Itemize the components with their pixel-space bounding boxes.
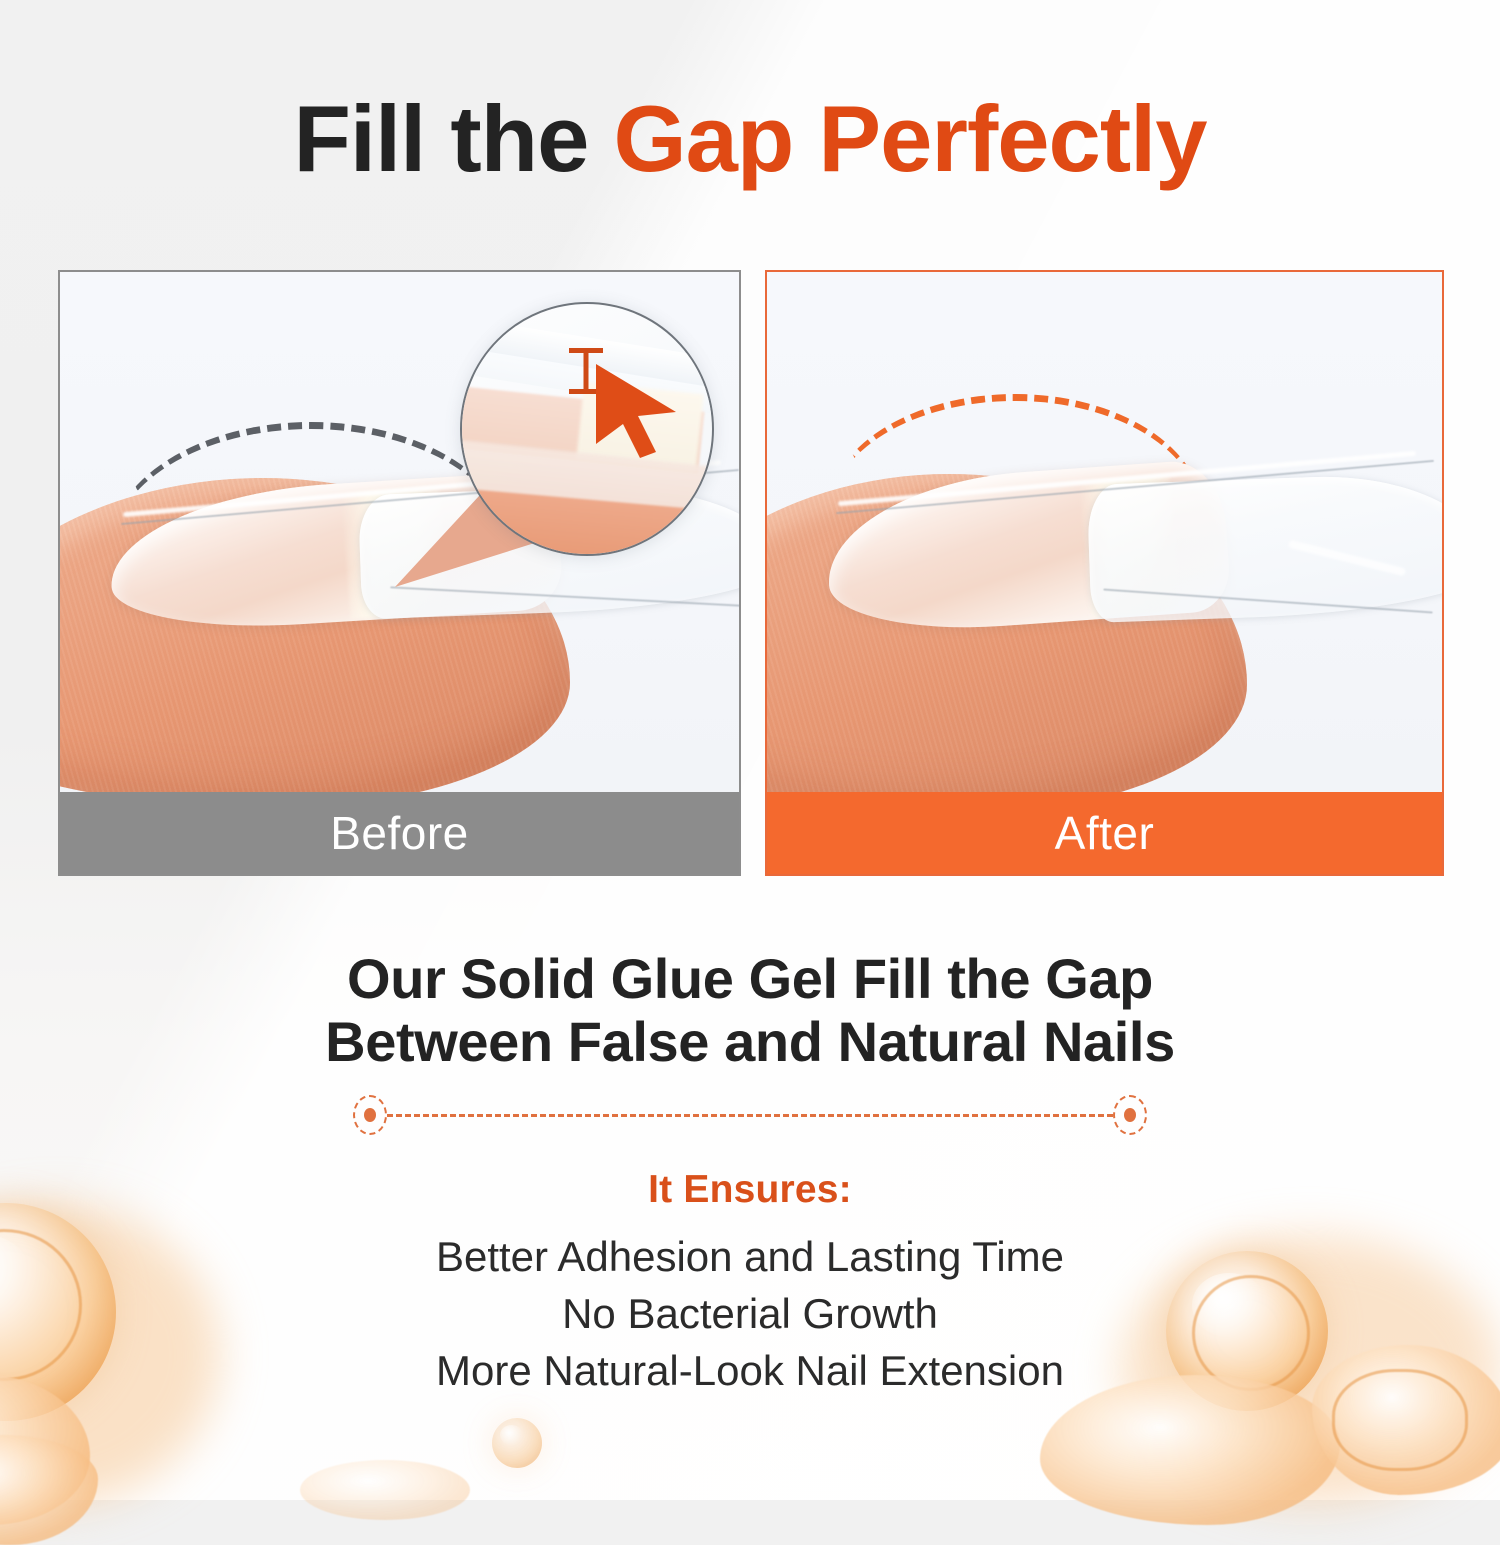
- after-panel: After: [765, 270, 1444, 876]
- magnifier-callout: [460, 302, 714, 556]
- list-item: Better Adhesion and Lasting Time: [0, 1228, 1500, 1285]
- page-title-plain: Fill the: [293, 86, 613, 191]
- before-photo: [60, 272, 739, 796]
- page-title-accent: Gap Perfectly: [613, 86, 1206, 191]
- infographic-root: Fill the Gap Perfectly: [0, 0, 1500, 1500]
- before-panel: Before: [58, 270, 741, 876]
- after-photo: [767, 272, 1442, 796]
- ensures-list: Better Adhesion and Lasting Time No Bact…: [0, 1228, 1500, 1399]
- subheadline-line-1: Our Solid Glue Gel Fill the Gap: [0, 948, 1500, 1011]
- divider-cap-right: [1113, 1095, 1147, 1135]
- list-item: No Bacterial Growth: [0, 1285, 1500, 1342]
- ensures-title: It Ensures:: [0, 1168, 1500, 1212]
- section-divider: [0, 1092, 1500, 1138]
- gel-decor-bottom-mid: [300, 1452, 500, 1512]
- divider-line: [387, 1114, 1113, 1117]
- gel-blob-left-2: [0, 1435, 98, 1545]
- divider-cap-left: [353, 1095, 387, 1135]
- subheadline: Our Solid Glue Gel Fill the Gap Between …: [0, 948, 1500, 1073]
- gel-blob-mid: [300, 1460, 470, 1520]
- cursor-arrow-icon: [590, 360, 682, 458]
- after-caption: After: [767, 792, 1442, 874]
- gel-decor-center-small: [492, 1418, 552, 1478]
- subheadline-line-2: Between False and Natural Nails: [0, 1011, 1500, 1074]
- gel-bubble-small-center: [492, 1418, 542, 1468]
- list-item: More Natural-Look Nail Extension: [0, 1342, 1500, 1399]
- before-caption: Before: [60, 792, 739, 874]
- page-title: Fill the Gap Perfectly: [0, 92, 1500, 186]
